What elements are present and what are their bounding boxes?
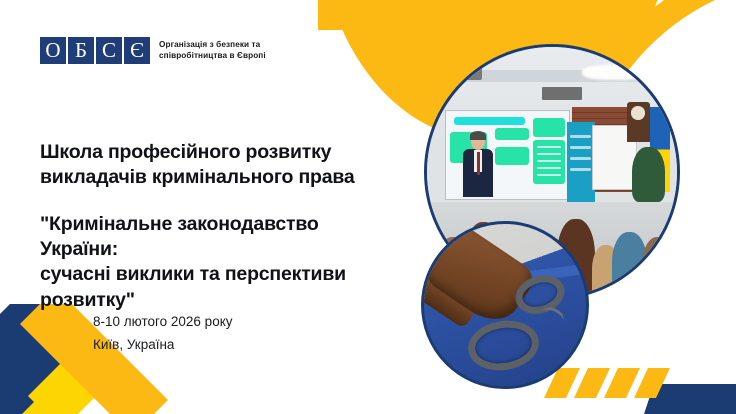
logo-letter-b: Б xyxy=(68,37,94,64)
osce-logo: О Б С Є Організація з безпеки та співроб… xyxy=(40,37,266,64)
event-location: Київ, Україна xyxy=(93,334,233,357)
gavel-handcuffs-photo xyxy=(421,221,589,389)
event-meta: 8-10 лютого 2026 року Київ, Україна xyxy=(93,311,233,357)
logo-letter-o: О xyxy=(40,37,66,64)
slide-box-mid-top xyxy=(495,128,529,140)
wall-clock xyxy=(627,102,650,142)
attendee xyxy=(642,237,675,297)
slide-box-right-top xyxy=(533,118,565,137)
logo-letter-ye: Є xyxy=(124,37,150,64)
page-title: Школа професійного розвитку викладачів к… xyxy=(40,140,400,191)
yellow-blob-fill-decor xyxy=(318,0,518,30)
slide-text-line xyxy=(537,153,562,155)
ceiling-lamp xyxy=(582,65,647,80)
slide-box-mid-bottom xyxy=(495,147,529,165)
osce-logo-caption: Організація з безпеки та співробітництва… xyxy=(159,40,266,62)
air-vent xyxy=(542,87,582,100)
logo-letter-s: С xyxy=(96,37,122,64)
osce-logo-marks: О Б С Є xyxy=(40,37,150,64)
slide-text-line xyxy=(537,146,562,148)
event-dates: 8-10 лютого 2026 року xyxy=(93,311,233,334)
poster-canvas: О Б С Є Організація з безпеки та співроб… xyxy=(0,0,736,414)
page-subtitle: "Кримінальне законодавство України: суча… xyxy=(40,212,400,313)
projector xyxy=(457,67,482,80)
presenter-hair xyxy=(470,131,486,140)
slide-text-line xyxy=(537,160,562,162)
title-block: Школа професійного розвитку викладачів к… xyxy=(40,140,400,313)
slide-title-box xyxy=(454,117,525,126)
